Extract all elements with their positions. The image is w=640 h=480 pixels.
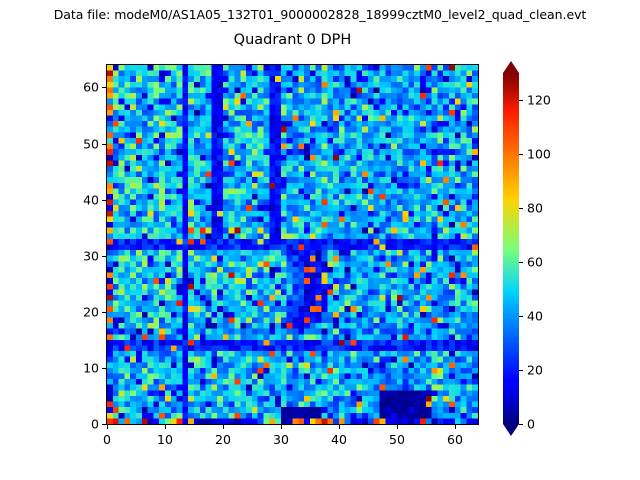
y-tick-label: 50: [59, 137, 99, 152]
x-tick-mark: [455, 425, 456, 429]
y-tick-label: 10: [59, 361, 99, 376]
y-tick-mark: [102, 312, 106, 313]
heatmap-axes[interactable]: [107, 65, 478, 424]
colorbar-tick-label: 120: [527, 93, 551, 108]
x-tick-mark: [281, 425, 282, 429]
colorbar-tick-mark: [519, 424, 523, 425]
colorbar-tick-mark: [519, 154, 523, 155]
colorbar-tick-label: 40: [527, 309, 543, 324]
colorbar-tick-label: 0: [527, 417, 535, 432]
colorbar-gradient: [503, 73, 519, 424]
x-tick-label: 30: [273, 432, 289, 447]
x-tick-mark: [397, 425, 398, 429]
x-tick-label: 0: [103, 432, 111, 447]
x-tick-mark: [165, 425, 166, 429]
colorbar-under-arrow: [503, 424, 519, 436]
y-tick-mark: [102, 200, 106, 201]
axes-spine-left: [106, 64, 107, 425]
x-tick-label: 10: [157, 432, 173, 447]
matplotlib-figure: Data file: modeM0/AS1A05_132T01_90000028…: [0, 0, 640, 480]
y-tick-mark: [102, 424, 106, 425]
axes-spine-bottom: [106, 424, 479, 425]
x-tick-label: 20: [215, 432, 231, 447]
y-tick-mark: [102, 256, 106, 257]
colorbar-tick-mark: [519, 208, 523, 209]
y-tick-label: 0: [59, 417, 99, 432]
colorbar[interactable]: [503, 61, 519, 436]
x-tick-mark: [107, 425, 108, 429]
colorbar-over-arrow: [503, 61, 519, 73]
y-tick-mark: [102, 368, 106, 369]
colorbar-tick-label: 20: [527, 363, 543, 378]
x-tick-label: 60: [447, 432, 463, 447]
colorbar-body[interactable]: [503, 73, 519, 424]
colorbar-tick-label: 60: [527, 255, 543, 270]
colorbar-tick-label: 100: [527, 147, 551, 162]
colorbar-tick-mark: [519, 262, 523, 263]
y-tick-label: 20: [59, 305, 99, 320]
colorbar-tick-mark: [519, 370, 523, 371]
colorbar-tick-mark: [519, 100, 523, 101]
x-tick-label: 50: [389, 432, 405, 447]
y-tick-mark: [102, 144, 106, 145]
plot-title: Quadrant 0 DPH: [107, 32, 478, 48]
x-tick-mark: [339, 425, 340, 429]
x-tick-label: 40: [331, 432, 347, 447]
x-tick-mark: [223, 425, 224, 429]
y-tick-mark: [102, 87, 106, 88]
axes-spine-right: [478, 64, 479, 425]
data-file-label: Data file: modeM0/AS1A05_132T01_90000028…: [0, 7, 640, 22]
y-tick-label: 30: [59, 249, 99, 264]
y-tick-label: 60: [59, 80, 99, 95]
detector-pixel-heatmap[interactable]: [107, 65, 478, 424]
colorbar-tick-mark: [519, 316, 523, 317]
y-tick-label: 40: [59, 193, 99, 208]
colorbar-tick-label: 80: [527, 201, 543, 216]
axes-spine-top: [106, 64, 479, 65]
